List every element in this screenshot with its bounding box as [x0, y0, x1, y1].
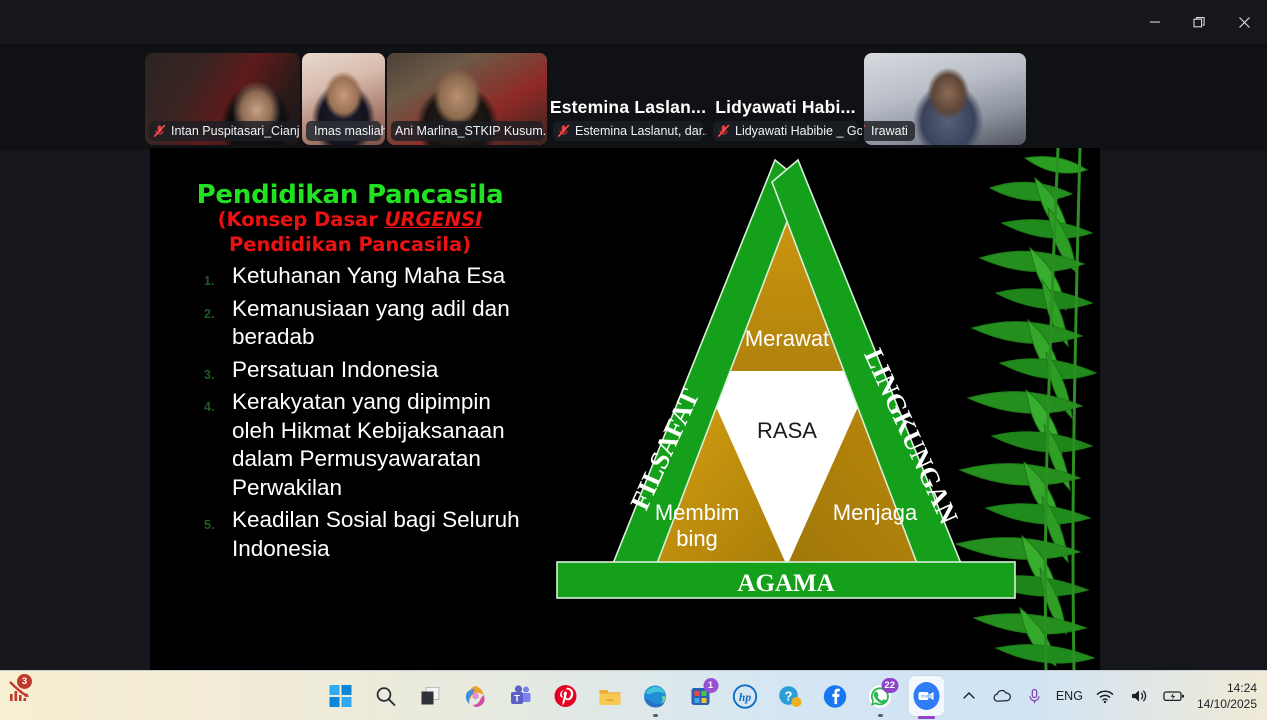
- list-item: 1.Ketuhanan Yang Maha Esa: [198, 262, 538, 291]
- copilot-icon[interactable]: [458, 679, 492, 713]
- list-item-number: 4.: [204, 393, 214, 422]
- battery-icon[interactable]: [1161, 683, 1187, 709]
- label-merawat: Merawat: [745, 326, 829, 351]
- participant-initial-name: Estemina Laslan...: [549, 97, 707, 118]
- search-icon[interactable]: [368, 679, 402, 713]
- svg-text:?: ?: [785, 688, 793, 703]
- list-item: 3.Persatuan Indonesia: [198, 356, 538, 385]
- participant-name-badge: Intan Puspitasari_Cianj...: [149, 121, 296, 141]
- triangle-diagram-svg: FILSAFAT LINGKUNGAN AGAMA Merawat Membim…: [550, 148, 1100, 670]
- list-item-text: Kemanusiaan yang adil dan beradab: [232, 296, 510, 350]
- close-button[interactable]: [1222, 0, 1267, 44]
- taskbar-clock[interactable]: 14:24 14/10/2025: [1197, 680, 1261, 712]
- show-hidden-icons-chevron-icon[interactable]: [958, 683, 980, 709]
- hp-logo-icon: hp: [733, 684, 758, 709]
- windows-taskbar: 3: [0, 670, 1267, 720]
- magnifier-icon: [374, 685, 396, 707]
- slide-subtitle-line1: (Konsep Dasar URGENSI: [150, 208, 550, 231]
- list-item-text: Keadilan Sosial bagi Seluruh Indonesia: [232, 507, 520, 561]
- folder-icon: [598, 684, 623, 709]
- microsoft-teams-icon[interactable]: T: [503, 679, 537, 713]
- pinterest-icon[interactable]: [548, 679, 582, 713]
- task-view-icon[interactable]: [413, 679, 447, 713]
- participant-tiles: Intan Puspitasari_Cianj... Imas masliah …: [145, 53, 1028, 145]
- participant-name: Ani Marlina_STKIP Kusum...: [395, 124, 547, 138]
- hp-icon[interactable]: hp: [728, 679, 762, 713]
- list-item-text: Ketuhanan Yang Maha Esa: [232, 263, 505, 288]
- taskbar-left-group: 3: [4, 674, 38, 708]
- taskbar-app-group: T: [323, 671, 944, 720]
- participant-name: Estemina Laslanut, dar...: [575, 124, 707, 138]
- slide-subtitle-emphasis: URGENSI: [385, 208, 483, 231]
- slide-subtitle-line2: Pendidikan Pancasila): [150, 233, 550, 256]
- list-item-text: Kerakyatan yang dipimpin oleh Hikmat Keb…: [232, 389, 505, 500]
- participant-tile[interactable]: Intan Puspitasari_Cianj...: [145, 53, 300, 145]
- svg-text:hp: hp: [739, 692, 751, 704]
- cloud-icon: [992, 688, 1012, 704]
- zoom-logo-icon: zoom: [911, 681, 941, 711]
- participant-name-badge: Ani Marlina_STKIP Kusum...: [391, 121, 543, 141]
- participant-name-badge: Lidyawati Habibie _ Go...: [713, 121, 858, 141]
- store-badge: 1: [703, 678, 718, 693]
- mic-muted-icon: [864, 124, 866, 138]
- notification-badge: 3: [17, 674, 32, 689]
- microsoft-edge-icon[interactable]: [638, 679, 672, 713]
- participant-name: Lidyawati Habibie _ Go...: [735, 124, 862, 138]
- list-item: 2.Kemanusiaan yang adil dan beradab: [198, 295, 538, 352]
- label-menjaga: Menjaga: [833, 500, 918, 525]
- question-mark-icon: ?: [778, 684, 803, 709]
- language-indicator[interactable]: ENG: [1056, 689, 1083, 703]
- mic-icon: [1027, 688, 1042, 705]
- analytics-notification-icon[interactable]: 3: [4, 674, 38, 708]
- label-membimbing-line1: Membim: [655, 500, 739, 525]
- svg-text:T: T: [514, 693, 520, 703]
- system-tray: ENG: [958, 671, 1261, 720]
- start-logo-icon: [329, 685, 351, 707]
- get-help-icon[interactable]: ?: [773, 679, 807, 713]
- shared-screen-slide: Pendidikan Pancasila (Konsep Dasar URGEN…: [150, 148, 1100, 670]
- wifi-waves-icon: [1096, 689, 1114, 704]
- close-icon: [1238, 16, 1251, 29]
- list-item: 4.Kerakyatan yang dipimpin oleh Hikmat K…: [198, 388, 538, 502]
- minimize-button[interactable]: [1132, 0, 1177, 44]
- edge-logo-icon: [643, 684, 668, 709]
- microphone-icon[interactable]: [1024, 683, 1046, 709]
- participant-name-badge: Estemina Laslanut, dar...: [553, 121, 703, 141]
- participant-name-badge: Irawati: [864, 121, 915, 141]
- facebook-logo-icon: [823, 684, 848, 709]
- triangle-diagram: FILSAFAT LINGKUNGAN AGAMA Merawat Membim…: [550, 148, 1100, 670]
- list-item: 5.Keadilan Sosial bagi Seluruh Indonesia: [198, 506, 538, 563]
- whatsapp-icon[interactable]: 22: [863, 679, 897, 713]
- restore-button[interactable]: [1177, 0, 1222, 44]
- clock-date: 14/10/2025: [1197, 696, 1257, 712]
- participant-tile[interactable]: Irawati: [864, 53, 1026, 145]
- participant-tile[interactable]: Imas masliah: [302, 53, 385, 145]
- whatsapp-badge: 22: [881, 678, 898, 693]
- teams-logo-icon: T: [508, 684, 532, 708]
- label-membimbing-line2: bing: [676, 526, 718, 551]
- list-item-number: 5.: [204, 511, 214, 540]
- slide-text-column: Pendidikan Pancasila (Konsep Dasar URGEN…: [150, 148, 550, 670]
- list-item-text: Persatuan Indonesia: [232, 357, 438, 382]
- volume-icon: [1130, 688, 1148, 704]
- facebook-icon[interactable]: [818, 679, 852, 713]
- pancasila-list: 1.Ketuhanan Yang Maha Esa 2.Kemanusiaan …: [198, 262, 538, 567]
- copilot-swirl-icon: [463, 684, 487, 708]
- windows-start-icon[interactable]: [323, 679, 357, 713]
- participant-tile[interactable]: Lidyawati Habi... Lidyawati Habibie _ Go…: [709, 53, 862, 145]
- onedrive-cloud-icon[interactable]: [990, 683, 1014, 709]
- speaker-icon[interactable]: [1127, 683, 1151, 709]
- list-item-number: 1.: [204, 267, 214, 296]
- list-item-number: 3.: [204, 361, 214, 390]
- microsoft-store-icon[interactable]: 1: [683, 679, 717, 713]
- mic-muted-icon: [557, 124, 570, 138]
- slide-title-main: Pendidikan Pancasila: [150, 180, 550, 210]
- label-agama: AGAMA: [737, 570, 834, 597]
- clock-time: 14:24: [1227, 680, 1257, 696]
- slide-subtitle-prefix: (Konsep Dasar: [218, 208, 385, 231]
- participant-name: Irawati: [871, 124, 908, 138]
- participant-filmstrip: Intan Puspitasari_Cianj... Imas masliah …: [0, 44, 1267, 150]
- window-titlebar: [0, 0, 1267, 44]
- zoom-wordmark: zoom: [920, 694, 931, 699]
- participant-name: Intan Puspitasari_Cianj...: [171, 124, 300, 138]
- chevron-up-icon: [962, 689, 976, 703]
- task-view-squares-icon: [419, 685, 441, 707]
- mic-muted-icon: [717, 124, 730, 138]
- pinterest-logo-icon: [553, 684, 577, 708]
- participant-tile-active-speaker[interactable]: Ani Marlina_STKIP Kusum...: [387, 53, 547, 145]
- mic-muted-icon: [153, 124, 166, 138]
- participant-initial-name: Lidyawati Habi...: [709, 97, 862, 118]
- participant-name-badge: Imas masliah: [306, 121, 381, 141]
- list-item-number: 2.: [204, 300, 214, 329]
- zoom-meeting-window: Intan Puspitasari_Cianj... Imas masliah …: [0, 0, 1267, 720]
- restore-icon: [1193, 16, 1206, 29]
- battery-charging-icon: [1163, 689, 1185, 703]
- participant-name: Imas masliah: [314, 124, 385, 138]
- zoom-icon[interactable]: zoom: [908, 676, 944, 716]
- label-rasa: RASA: [757, 418, 817, 443]
- minimize-icon: [1149, 16, 1161, 28]
- file-explorer-icon[interactable]: [593, 679, 627, 713]
- participant-tile[interactable]: Estemina Laslan... Estemina Laslanut, da…: [549, 53, 707, 145]
- wifi-icon[interactable]: [1093, 683, 1117, 709]
